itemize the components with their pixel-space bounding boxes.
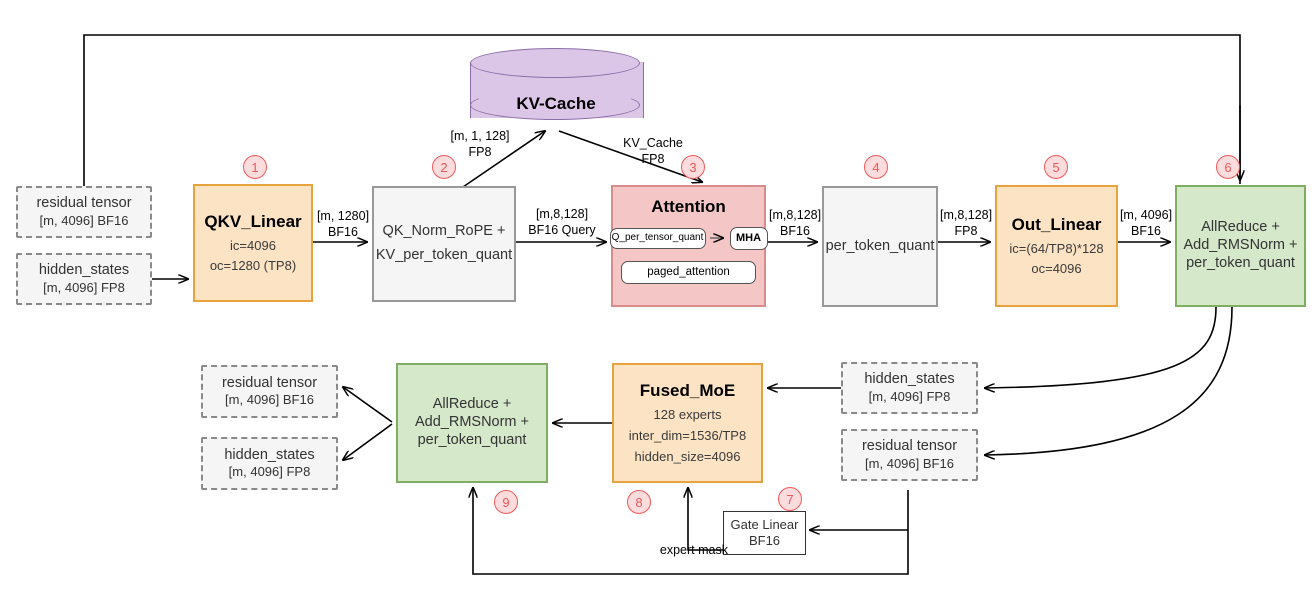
hidden-states-input-name: hidden_states	[39, 262, 129, 280]
hidden-states-mid: hidden_states [m, 4096] FP8	[841, 362, 978, 414]
hidden-states-output-shape: [m, 4096] FP8	[229, 464, 311, 480]
label-outlinear-to-allreduce: [m, 4096] BF16	[1119, 208, 1173, 239]
fused-moe-inter-dim: inter_dim=1536/TP8	[629, 428, 746, 444]
label-expert-mask: expert mask	[652, 543, 728, 559]
label-qkv-to-qknorm: [m, 1280] BF16	[315, 209, 371, 240]
label-attention-to-ptq: [m,8,128] BF16	[769, 208, 821, 239]
hidden-states-mid-shape: [m, 4096] FP8	[869, 389, 951, 405]
residual-tensor-output-shape: [m, 4096] BF16	[225, 392, 314, 408]
qk-norm-rope-line2: KV_per_token_quant	[376, 247, 512, 265]
wire-gate-to-moe	[688, 488, 723, 550]
per-token-quant-node[interactable]: per_token_quant	[822, 186, 938, 307]
wire-allreduce9-to-hidden-out	[343, 424, 392, 460]
out-linear-oc: oc=4096	[1031, 261, 1081, 277]
pill-arrow-icon	[710, 232, 726, 244]
attention-title: Attention	[651, 197, 726, 218]
per-token-quant-title: per_token_quant	[826, 238, 935, 256]
residual-tensor-output-name: residual tensor	[222, 375, 317, 393]
step-badge-7: 7	[778, 487, 802, 511]
step-badge-2: 2	[432, 155, 456, 179]
allreduce-moe-line3: per_token_quant	[418, 432, 527, 450]
label-ptq-to-outlinear: [m,8,128] FP8	[940, 208, 992, 239]
attention-row: Q_per_tensor_quant MHA	[610, 227, 768, 250]
attention-node[interactable]: Attention Q_per_tensor_quant MHA paged_a…	[611, 185, 766, 307]
gate-linear-title: Gate Linear	[731, 517, 799, 533]
out-linear-ic: ic=(64/TP8)*128	[1009, 241, 1103, 257]
kv-cache-node: KV-Cache	[470, 48, 642, 132]
out-linear-title: Out_Linear	[1012, 215, 1102, 236]
wire-residual-bottom-bus	[473, 488, 908, 574]
hidden-states-input-shape: [m, 4096] FP8	[43, 280, 125, 296]
paged-attention-pill[interactable]: paged_attention	[621, 261, 756, 284]
kv-cache-top-ellipse	[470, 48, 640, 78]
wire-allreduce-to-hidden-mid	[985, 307, 1216, 388]
allreduce-moe-line1: AllReduce +	[433, 396, 512, 414]
allreduce-moe-line2: Add_RMSNorm +	[415, 414, 529, 432]
step-badge-5: 5	[1044, 155, 1068, 179]
hidden-states-mid-name: hidden_states	[864, 371, 954, 389]
wire-allreduce9-to-residual-out	[343, 387, 392, 422]
residual-tensor-mid-name: residual tensor	[862, 438, 957, 456]
fused-moe-node[interactable]: Fused_MoE 128 experts inter_dim=1536/TP8…	[612, 363, 763, 483]
kv-cache-label: KV-Cache	[470, 94, 642, 114]
qkv-linear-node[interactable]: QKV_Linear ic=4096 oc=1280 (TP8)	[193, 184, 313, 302]
step-badge-3: 3	[681, 155, 705, 179]
step-badge-6: 6	[1216, 155, 1240, 179]
fused-moe-hidden-size: hidden_size=4096	[635, 449, 741, 465]
residual-tensor-mid-shape: [m, 4096] BF16	[865, 456, 954, 472]
step-badge-1: 1	[243, 155, 267, 179]
fused-moe-title: Fused_MoE	[640, 381, 735, 402]
allreduce-attn-node[interactable]: AllReduce + Add_RMSNorm + per_token_quan…	[1175, 185, 1306, 307]
residual-tensor-input: residual tensor [m, 4096] BF16	[16, 186, 152, 238]
q-per-tensor-quant-pill[interactable]: Q_per_tensor_quant	[610, 228, 706, 249]
qkv-linear-oc: oc=1280 (TP8)	[210, 258, 296, 274]
gate-linear-dtype: BF16	[749, 533, 780, 549]
out-linear-node[interactable]: Out_Linear ic=(64/TP8)*128 oc=4096	[995, 185, 1118, 307]
residual-tensor-input-shape: [m, 4096] BF16	[40, 213, 129, 229]
label-qknorm-to-attention: [m,8,128] BF16 Query	[522, 207, 602, 238]
allreduce-attn-line1: AllReduce +	[1201, 219, 1280, 237]
qkv-linear-title: QKV_Linear	[204, 212, 301, 233]
hidden-states-output: hidden_states [m, 4096] FP8	[201, 437, 338, 490]
step-badge-9: 9	[494, 490, 518, 514]
residual-tensor-mid: residual tensor [m, 4096] BF16	[841, 429, 978, 481]
allreduce-moe-node[interactable]: AllReduce + Add_RMSNorm + per_token_quan…	[396, 363, 548, 483]
residual-tensor-output: residual tensor [m, 4096] BF16	[201, 365, 338, 418]
hidden-states-input: hidden_states [m, 4096] FP8	[16, 253, 152, 305]
qk-norm-rope-line1: QK_Norm_RoPE +	[383, 223, 506, 241]
qk-norm-rope-node[interactable]: QK_Norm_RoPE + KV_per_token_quant	[372, 186, 516, 302]
fused-moe-experts: 128 experts	[654, 407, 722, 423]
residual-tensor-input-name: residual tensor	[36, 195, 131, 213]
step-badge-8: 8	[627, 490, 651, 514]
qkv-linear-ic: ic=4096	[230, 238, 276, 254]
diagram-canvas: KV-Cache residual tensor [m, 4096] BF16 …	[0, 0, 1316, 589]
allreduce-attn-line3: per_token_quant	[1186, 255, 1295, 273]
mha-pill[interactable]: MHA	[730, 227, 768, 250]
gate-linear-node[interactable]: Gate Linear BF16	[723, 511, 806, 555]
wire-allreduce-to-residual-mid	[985, 307, 1232, 455]
allreduce-attn-line2: Add_RMSNorm +	[1183, 237, 1297, 255]
step-badge-4: 4	[864, 155, 888, 179]
hidden-states-output-name: hidden_states	[224, 447, 314, 465]
